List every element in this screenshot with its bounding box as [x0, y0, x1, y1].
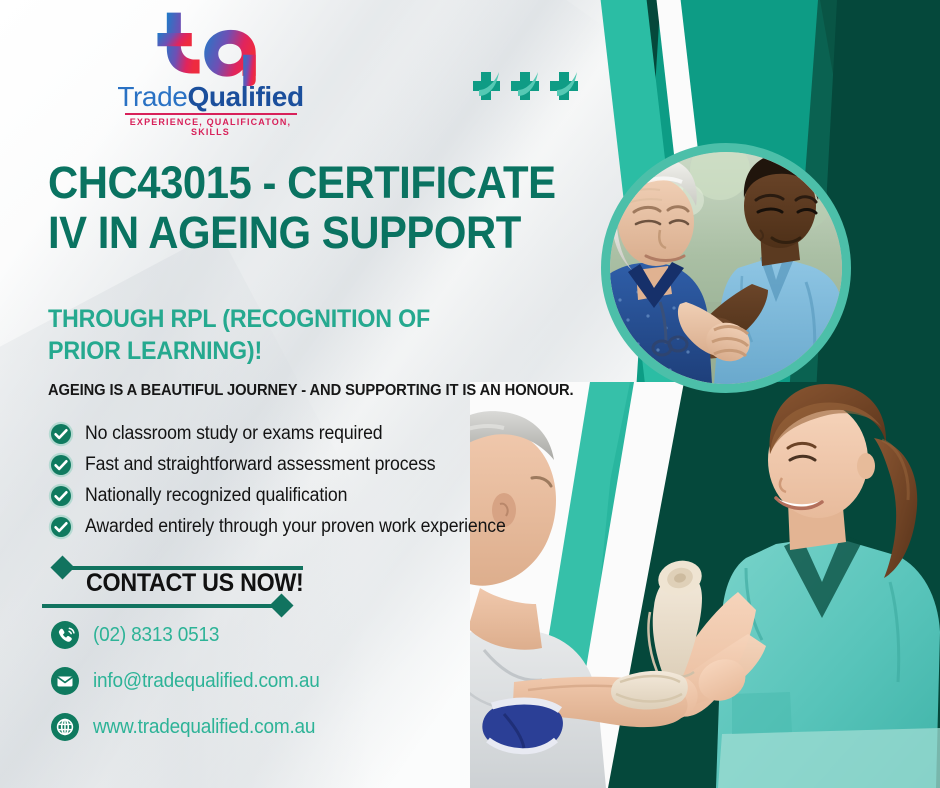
- benefit-text: Nationally recognized qualification: [85, 485, 347, 507]
- medical-cross-icon: [550, 72, 578, 100]
- diamond-icon: [50, 555, 74, 579]
- check-circle-icon: [48, 452, 74, 478]
- contact-website-text: www.tradequalified.com.au: [93, 716, 315, 739]
- medical-cross-group: [473, 68, 593, 102]
- headline-line-1: CHC43015 - CERTIFICATE: [48, 158, 569, 208]
- medical-cross-icon: [511, 72, 539, 100]
- email-icon: [50, 666, 80, 696]
- phone-icon: [50, 620, 80, 650]
- benefit-text: No classroom study or exams required: [85, 423, 382, 445]
- page-subtitle: THROUGH RPL (RECOGNITION OF PRIOR LEARNI…: [48, 303, 439, 367]
- check-circle-icon: [48, 421, 74, 447]
- globe-icon: [50, 712, 80, 742]
- brand-tagline: EXPERIENCE, QUALIFICATON, SKILLS: [113, 117, 308, 137]
- brand-wordmark: TradeQualified: [113, 83, 308, 111]
- subheadline-line-1: THROUGH RPL (RECOGNITION OF: [48, 303, 439, 335]
- contact-email-text: info@tradequalified.com.au: [93, 670, 320, 693]
- contact-list: (02) 8313 0513 info@tradequalified.com.a…: [50, 612, 470, 750]
- contact-email-row[interactable]: info@tradequalified.com.au: [50, 658, 470, 704]
- circle-photo-caregiver: [601, 143, 851, 393]
- contact-heading-banner: CONTACT US NOW!: [42, 560, 332, 612]
- benefit-text: Fast and straightforward assessment proc…: [85, 454, 436, 476]
- benefits-list: No classroom study or exams required Fas…: [48, 418, 568, 542]
- brand-name-part2: Qualified: [187, 81, 303, 112]
- check-circle-icon: [48, 483, 74, 509]
- headline-line-2: IV IN AGEING SUPPORT: [48, 208, 569, 258]
- benefit-text: Awarded entirely through your proven wor…: [85, 516, 506, 538]
- brand-name-part1: Trade: [117, 81, 187, 112]
- list-item: Fast and straightforward assessment proc…: [48, 449, 568, 480]
- logo-divider: [125, 113, 297, 115]
- tagline-statement: AGEING IS A BEAUTIFUL JOURNEY - AND SUPP…: [48, 382, 580, 400]
- subheadline-line-2: PRIOR LEARNING)!: [48, 335, 439, 367]
- contact-phone-text: (02) 8313 0513: [93, 624, 219, 647]
- list-item: Awarded entirely through your proven wor…: [48, 511, 568, 542]
- contact-rule-bottom: [42, 604, 279, 608]
- list-item: No classroom study or exams required: [48, 418, 568, 449]
- page-title: CHC43015 - CERTIFICATE IV IN AGEING SUPP…: [48, 158, 569, 259]
- brand-logo: TradeQualified EXPERIENCE, QUALIFICATON,…: [113, 8, 308, 138]
- list-item: Nationally recognized qualification: [48, 480, 568, 511]
- contact-phone-row[interactable]: (02) 8313 0513: [50, 612, 470, 658]
- contact-website-row[interactable]: www.tradequalified.com.au: [50, 704, 470, 750]
- ta-monogram-icon: [148, 8, 273, 86]
- flyer-canvas: TradeQualified EXPERIENCE, QUALIFICATON,…: [0, 0, 940, 788]
- medical-cross-icon: [473, 72, 500, 100]
- check-circle-icon: [48, 514, 74, 540]
- contact-title: CONTACT US NOW!: [86, 569, 304, 598]
